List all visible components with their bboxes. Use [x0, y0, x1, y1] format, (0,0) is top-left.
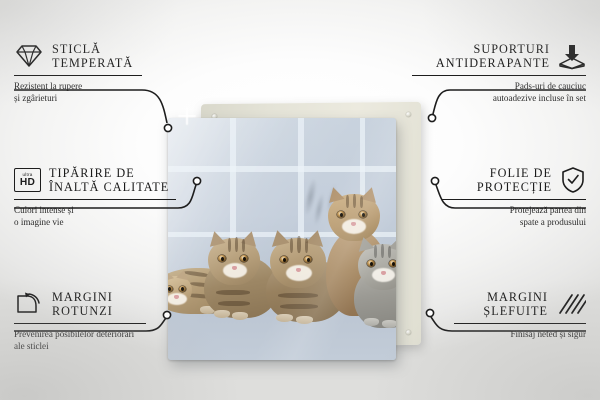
feature-divider	[454, 323, 586, 325]
feature-title-line1: STICLĂ	[52, 42, 133, 56]
shield-check-icon	[560, 166, 586, 194]
feature-anti-slip-supports: SUPORTURI ANTIDERAPANTE Pads-uri de cauc…	[412, 42, 586, 104]
feature-title-line2: ANTIDERAPANTE	[436, 56, 550, 70]
feature-rounded-edges: MARGINI ROTUNZI Prevenirea posibilelor d…	[14, 290, 146, 352]
feature-description: Rezistent la rupere și zgârieturi	[14, 81, 142, 104]
screw-hole-bottom-right	[406, 330, 411, 335]
feature-title-line1: FOLIE DE	[477, 166, 552, 180]
screw-hole-top-right	[406, 112, 411, 117]
feature-title-line2: ȘLEFUITE	[483, 304, 548, 318]
feature-divider	[442, 199, 586, 201]
pad-down-arrow-icon	[558, 43, 586, 70]
feature-divider	[14, 75, 142, 77]
feature-description: Culori intense și o imagine vie	[14, 205, 176, 228]
product-infographic: STICLĂ TEMPERATĂ Rezistent la rupere și …	[0, 0, 600, 400]
feature-title-line1: MARGINI	[52, 290, 113, 304]
hd-badge-main-label: HD	[20, 178, 35, 188]
feature-polished-edges: MARGINI ȘLEFUITE Finisaj neted și sigur	[454, 290, 586, 341]
product-image	[168, 103, 432, 360]
diamond-icon	[14, 43, 44, 69]
rounded-corner-icon	[14, 291, 44, 317]
feature-title-line1: MARGINI	[483, 290, 548, 304]
feature-description: Protejează partea din spate a produsului	[442, 205, 586, 228]
feature-high-quality-print: ultra HD TIPĂRIRE DE ÎNALTĂ CALITATE Cul…	[14, 166, 176, 228]
window-mullion	[168, 166, 396, 172]
hatch-lines-icon	[556, 292, 586, 316]
feature-tempered-glass: STICLĂ TEMPERATĂ Rezistent la rupere și …	[14, 42, 142, 104]
feature-title-line1: TIPĂRIRE DE	[49, 166, 169, 180]
feature-description: Prevenirea posibilelor deteriorări ale s…	[14, 329, 146, 352]
glass-panel	[168, 118, 396, 360]
feature-divider	[14, 199, 176, 201]
feature-description: Finisaj neted și sigur	[454, 329, 586, 340]
kitten-photo	[168, 118, 396, 360]
ultra-hd-badge-icon: ultra HD	[14, 168, 41, 192]
feature-title-line2: ROTUNZI	[52, 304, 113, 318]
feature-description: Pads-uri de cauciuc autoadezive incluse …	[412, 81, 586, 104]
feature-divider	[14, 323, 146, 325]
feature-title-line2: PROTECȚIE	[477, 180, 552, 194]
feature-title-line1: SUPORTURI	[436, 42, 550, 56]
feature-title-line2: ÎNALTĂ CALITATE	[49, 180, 169, 194]
feature-title-line2: TEMPERATĂ	[52, 56, 133, 70]
feature-protective-film: FOLIE DE PROTECȚIE Protejează partea din…	[442, 166, 586, 228]
connector-dot-protective-film	[431, 177, 438, 184]
feature-divider	[412, 75, 586, 77]
